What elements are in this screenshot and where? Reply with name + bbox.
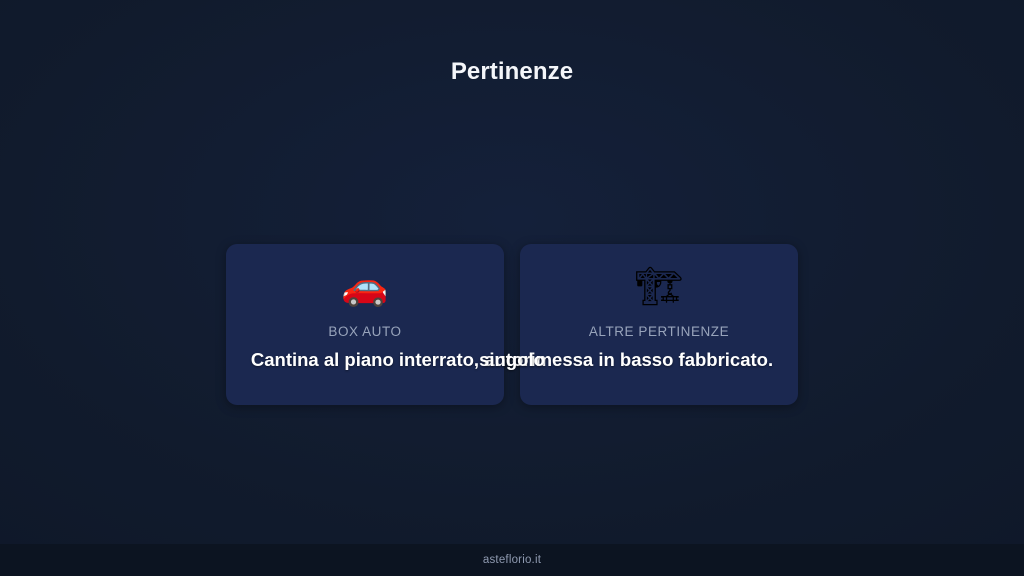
singolo-overlay: singolo [0,349,1024,371]
card-altre-pertinenze[interactable]: 🏗 ALTRE PERTINENZE [520,244,798,405]
footer-site-name: asteflorio.it [483,554,541,566]
car-icon: 🚗 [341,261,388,313]
page-title: Pertinenze [0,58,1024,86]
pertinenze-card-list: 🚗 BOX AUTO 🏗 ALTRE PERTINENZE [226,244,798,405]
card-box-auto-label: BOX AUTO [328,324,401,339]
footer: asteflorio.it [0,544,1024,576]
card-altre-pertinenze-label: ALTRE PERTINENZE [589,324,729,339]
pertinenze-screen: Pertinenze 🚗 BOX AUTO 🏗 ALTRE PERTINENZE… [0,0,1024,576]
construction-crane-icon: 🏗 [635,261,683,313]
card-box-auto[interactable]: 🚗 BOX AUTO [226,244,504,405]
